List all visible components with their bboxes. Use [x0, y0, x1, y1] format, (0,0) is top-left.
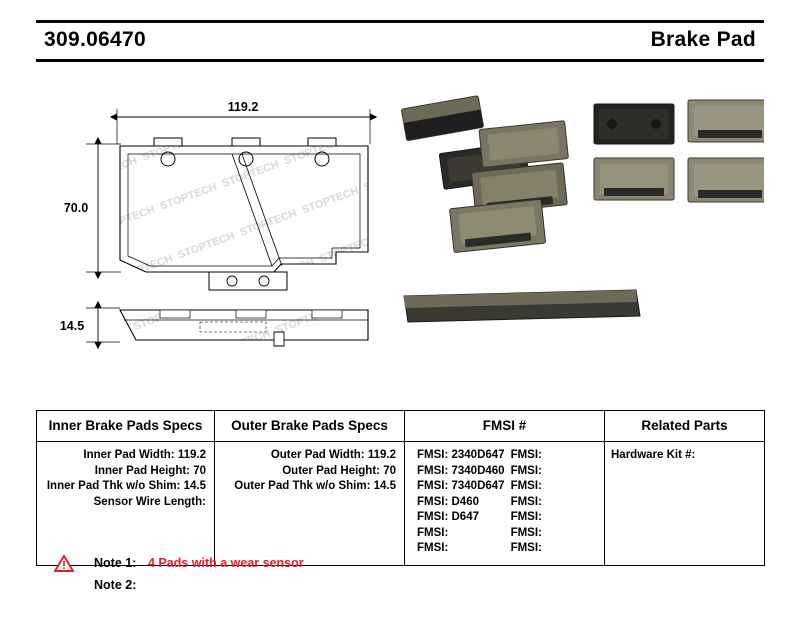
specs-table-header-row: Inner Brake Pads Specs Outer Brake Pads …	[37, 411, 765, 442]
dimension-thickness-label: 14.5	[60, 319, 84, 333]
dimension-height: 70.0	[64, 144, 121, 272]
hardware-kit-entry: Hardware Kit #:	[611, 448, 758, 464]
page-header: 309.06470 Brake Pad	[36, 20, 764, 62]
outer-specs-cell: Outer Pad Width: 119.2 Outer Pad Height:…	[215, 442, 405, 566]
spec-value: 70	[383, 465, 396, 477]
spec-value: 119.2	[178, 449, 206, 461]
spec-label: Outer Pad Height:	[282, 465, 380, 477]
note-2-label: Note 2:	[94, 574, 136, 596]
column-header-outer: Outer Brake Pads Specs	[215, 411, 405, 442]
spec-label: Inner Pad Thk w/o Shim:	[47, 480, 181, 492]
column-header-inner: Inner Brake Pads Specs	[37, 411, 215, 442]
note-1-label: Note 1:	[94, 552, 136, 574]
fmsi-entry: FMSI:	[505, 448, 599, 464]
spec-value: 119.2	[368, 449, 396, 461]
fmsi-column-left: FMSI: 2340D647 FMSI: 7340D460 FMSI: 7340…	[411, 448, 505, 557]
spec-value: 14.5	[184, 480, 206, 492]
spec-row-outer-pad-height: Outer Pad Height: 70	[221, 464, 398, 480]
spec-row-inner-pad-height: Inner Pad Height: 70	[43, 464, 208, 480]
spec-value: 70	[193, 465, 206, 477]
fmsi-entry: FMSI: D647	[411, 510, 505, 526]
warning-icon	[54, 555, 74, 572]
dimension-thickness: 14.5	[60, 308, 120, 342]
fmsi-entry: FMSI: D460	[411, 495, 505, 511]
spec-row-inner-pad-thickness: Inner Pad Thk w/o Shim: 14.5	[43, 479, 208, 495]
pad-front-view: 119.2 70.0	[64, 100, 370, 290]
specs-table-body-row: Inner Pad Width: 119.2 Inner Pad Height:…	[37, 442, 765, 566]
note-1-text: 4 Pads with a wear sensor	[148, 552, 304, 574]
spec-label: Outer Pad Thk w/o Shim:	[234, 480, 370, 492]
spec-label: Inner Pad Height:	[95, 465, 190, 477]
fmsi-entry: FMSI:	[505, 526, 599, 542]
fmsi-entry: FMSI:	[505, 495, 599, 511]
fmsi-entry: FMSI:	[505, 510, 599, 526]
spec-row-outer-pad-thickness: Outer Pad Thk w/o Shim: 14.5	[221, 479, 398, 495]
fmsi-column-right: FMSI: FMSI: FMSI: FMSI: FMSI: FMSI: FMSI…	[505, 448, 599, 557]
related-parts-cell: Hardware Kit #:	[605, 442, 765, 566]
fmsi-entry: FMSI:	[505, 479, 599, 495]
part-number: 309.06470	[44, 28, 146, 52]
fmsi-cell: FMSI: 2340D647 FMSI: 7340D460 FMSI: 7340…	[405, 442, 605, 566]
specs-table: Inner Brake Pads Specs Outer Brake Pads …	[36, 410, 765, 566]
fmsi-entry: FMSI:	[411, 526, 505, 542]
spec-label: Inner Pad Width:	[83, 449, 174, 461]
column-header-fmsi: FMSI #	[405, 411, 605, 442]
spec-value: 14.5	[374, 480, 396, 492]
fmsi-entry: FMSI:	[505, 464, 599, 480]
notes-section: Note 1: 4 Pads with a wear sensor Note 2…	[36, 552, 536, 596]
dimension-width: 119.2	[117, 100, 370, 144]
spec-label: Outer Pad Width:	[271, 449, 365, 461]
column-header-related: Related Parts	[605, 411, 765, 442]
pad-photo-group-right	[594, 100, 764, 202]
inner-specs-cell: Inner Pad Width: 119.2 Inner Pad Height:…	[37, 442, 215, 566]
fmsi-entry: FMSI: 7340D647	[411, 479, 505, 495]
note-row-2: Note 2:	[36, 574, 536, 596]
fmsi-entry: FMSI: 7340D460	[411, 464, 505, 480]
page-title: Brake Pad	[651, 28, 756, 52]
brake-pad-spec-sheet: 309.06470 Brake Pad STOPTECH	[0, 0, 800, 619]
pad-side-view: 14.5	[60, 308, 368, 346]
fmsi-entry: FMSI: 2340D647	[411, 448, 505, 464]
technical-drawing: STOPTECH 119.2	[36, 64, 764, 384]
spec-row-sensor-wire-length: Sensor Wire Length:	[43, 495, 208, 511]
note-row-1: Note 1: 4 Pads with a wear sensor	[36, 552, 536, 574]
dimension-width-label: 119.2	[228, 100, 259, 114]
dimension-height-label: 70.0	[64, 201, 88, 215]
spec-row-inner-pad-width: Inner Pad Width: 119.2	[43, 448, 208, 464]
spec-label: Sensor Wire Length:	[94, 496, 206, 508]
spec-row-outer-pad-width: Outer Pad Width: 119.2	[221, 448, 398, 464]
pad-photo-side	[404, 290, 640, 322]
pad-photo-group-left	[401, 96, 568, 253]
